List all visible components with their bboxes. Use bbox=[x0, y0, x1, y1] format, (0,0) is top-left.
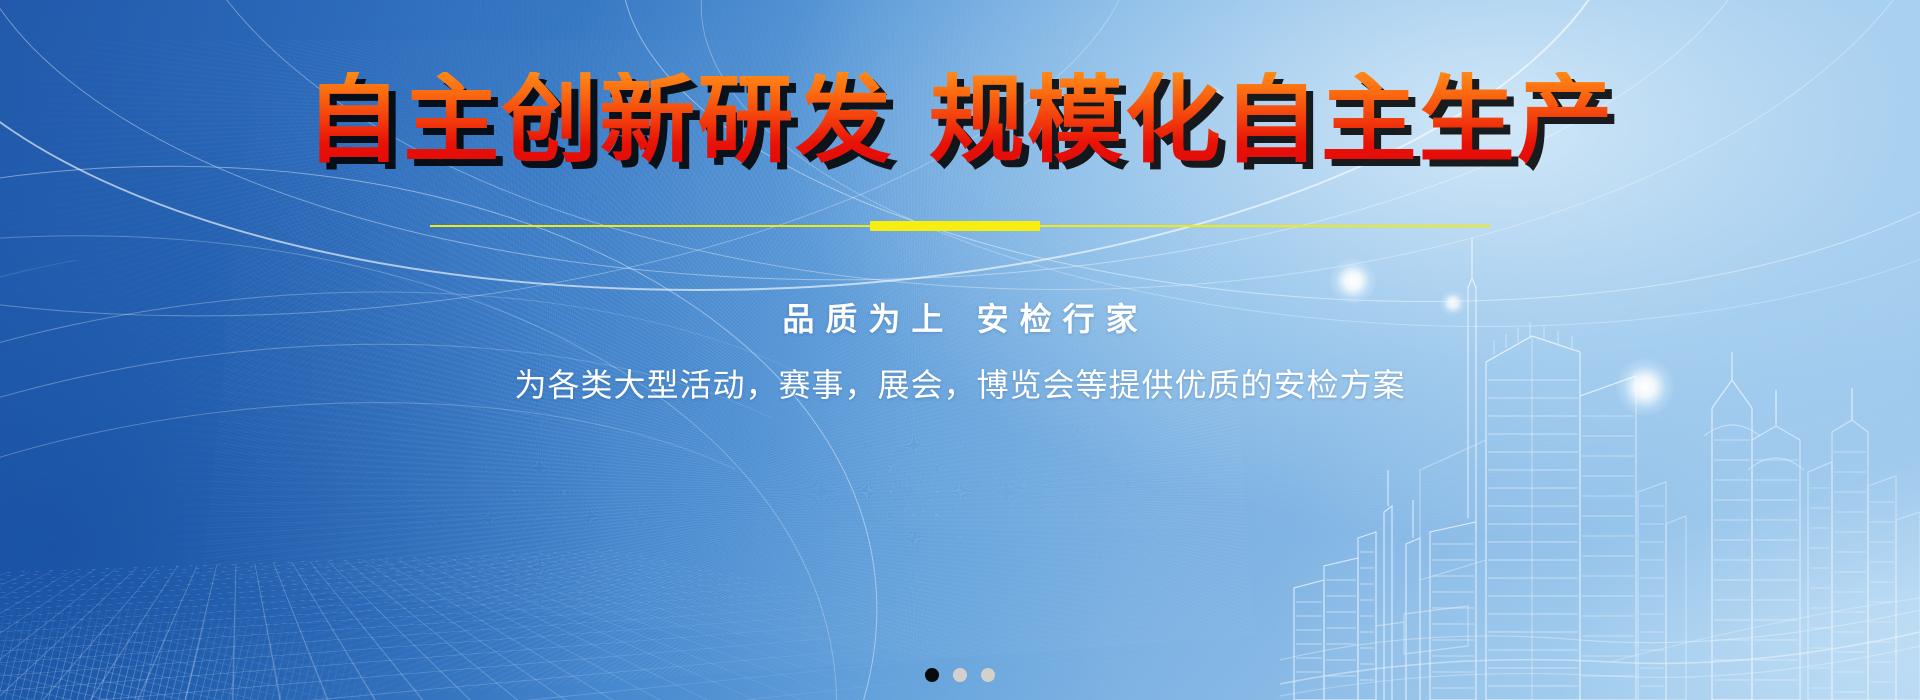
banner-headline: 自主创新研发 规模化自主生产 bbox=[305, 72, 1614, 168]
carousel-dots[interactable] bbox=[925, 668, 995, 682]
divider bbox=[430, 220, 1490, 232]
carousel-dot-3[interactable] bbox=[981, 668, 995, 682]
hero-banner: 自主创新研发 规模化自主生产 品质为上 安检行家 为各类大型活动，赛事，展会，博… bbox=[0, 0, 1920, 700]
banner-subline: 为各类大型活动，赛事，展会，博览会等提供优质的安检方案 bbox=[514, 360, 1405, 406]
divider-center-bar bbox=[870, 221, 1040, 231]
carousel-dot-1[interactable] bbox=[925, 668, 939, 682]
banner-tagline: 品质为上 安检行家 bbox=[771, 294, 1148, 340]
banner-content: 自主创新研发 规模化自主生产 品质为上 安检行家 为各类大型活动，赛事，展会，博… bbox=[0, 0, 1920, 700]
carousel-dot-2[interactable] bbox=[953, 668, 967, 682]
